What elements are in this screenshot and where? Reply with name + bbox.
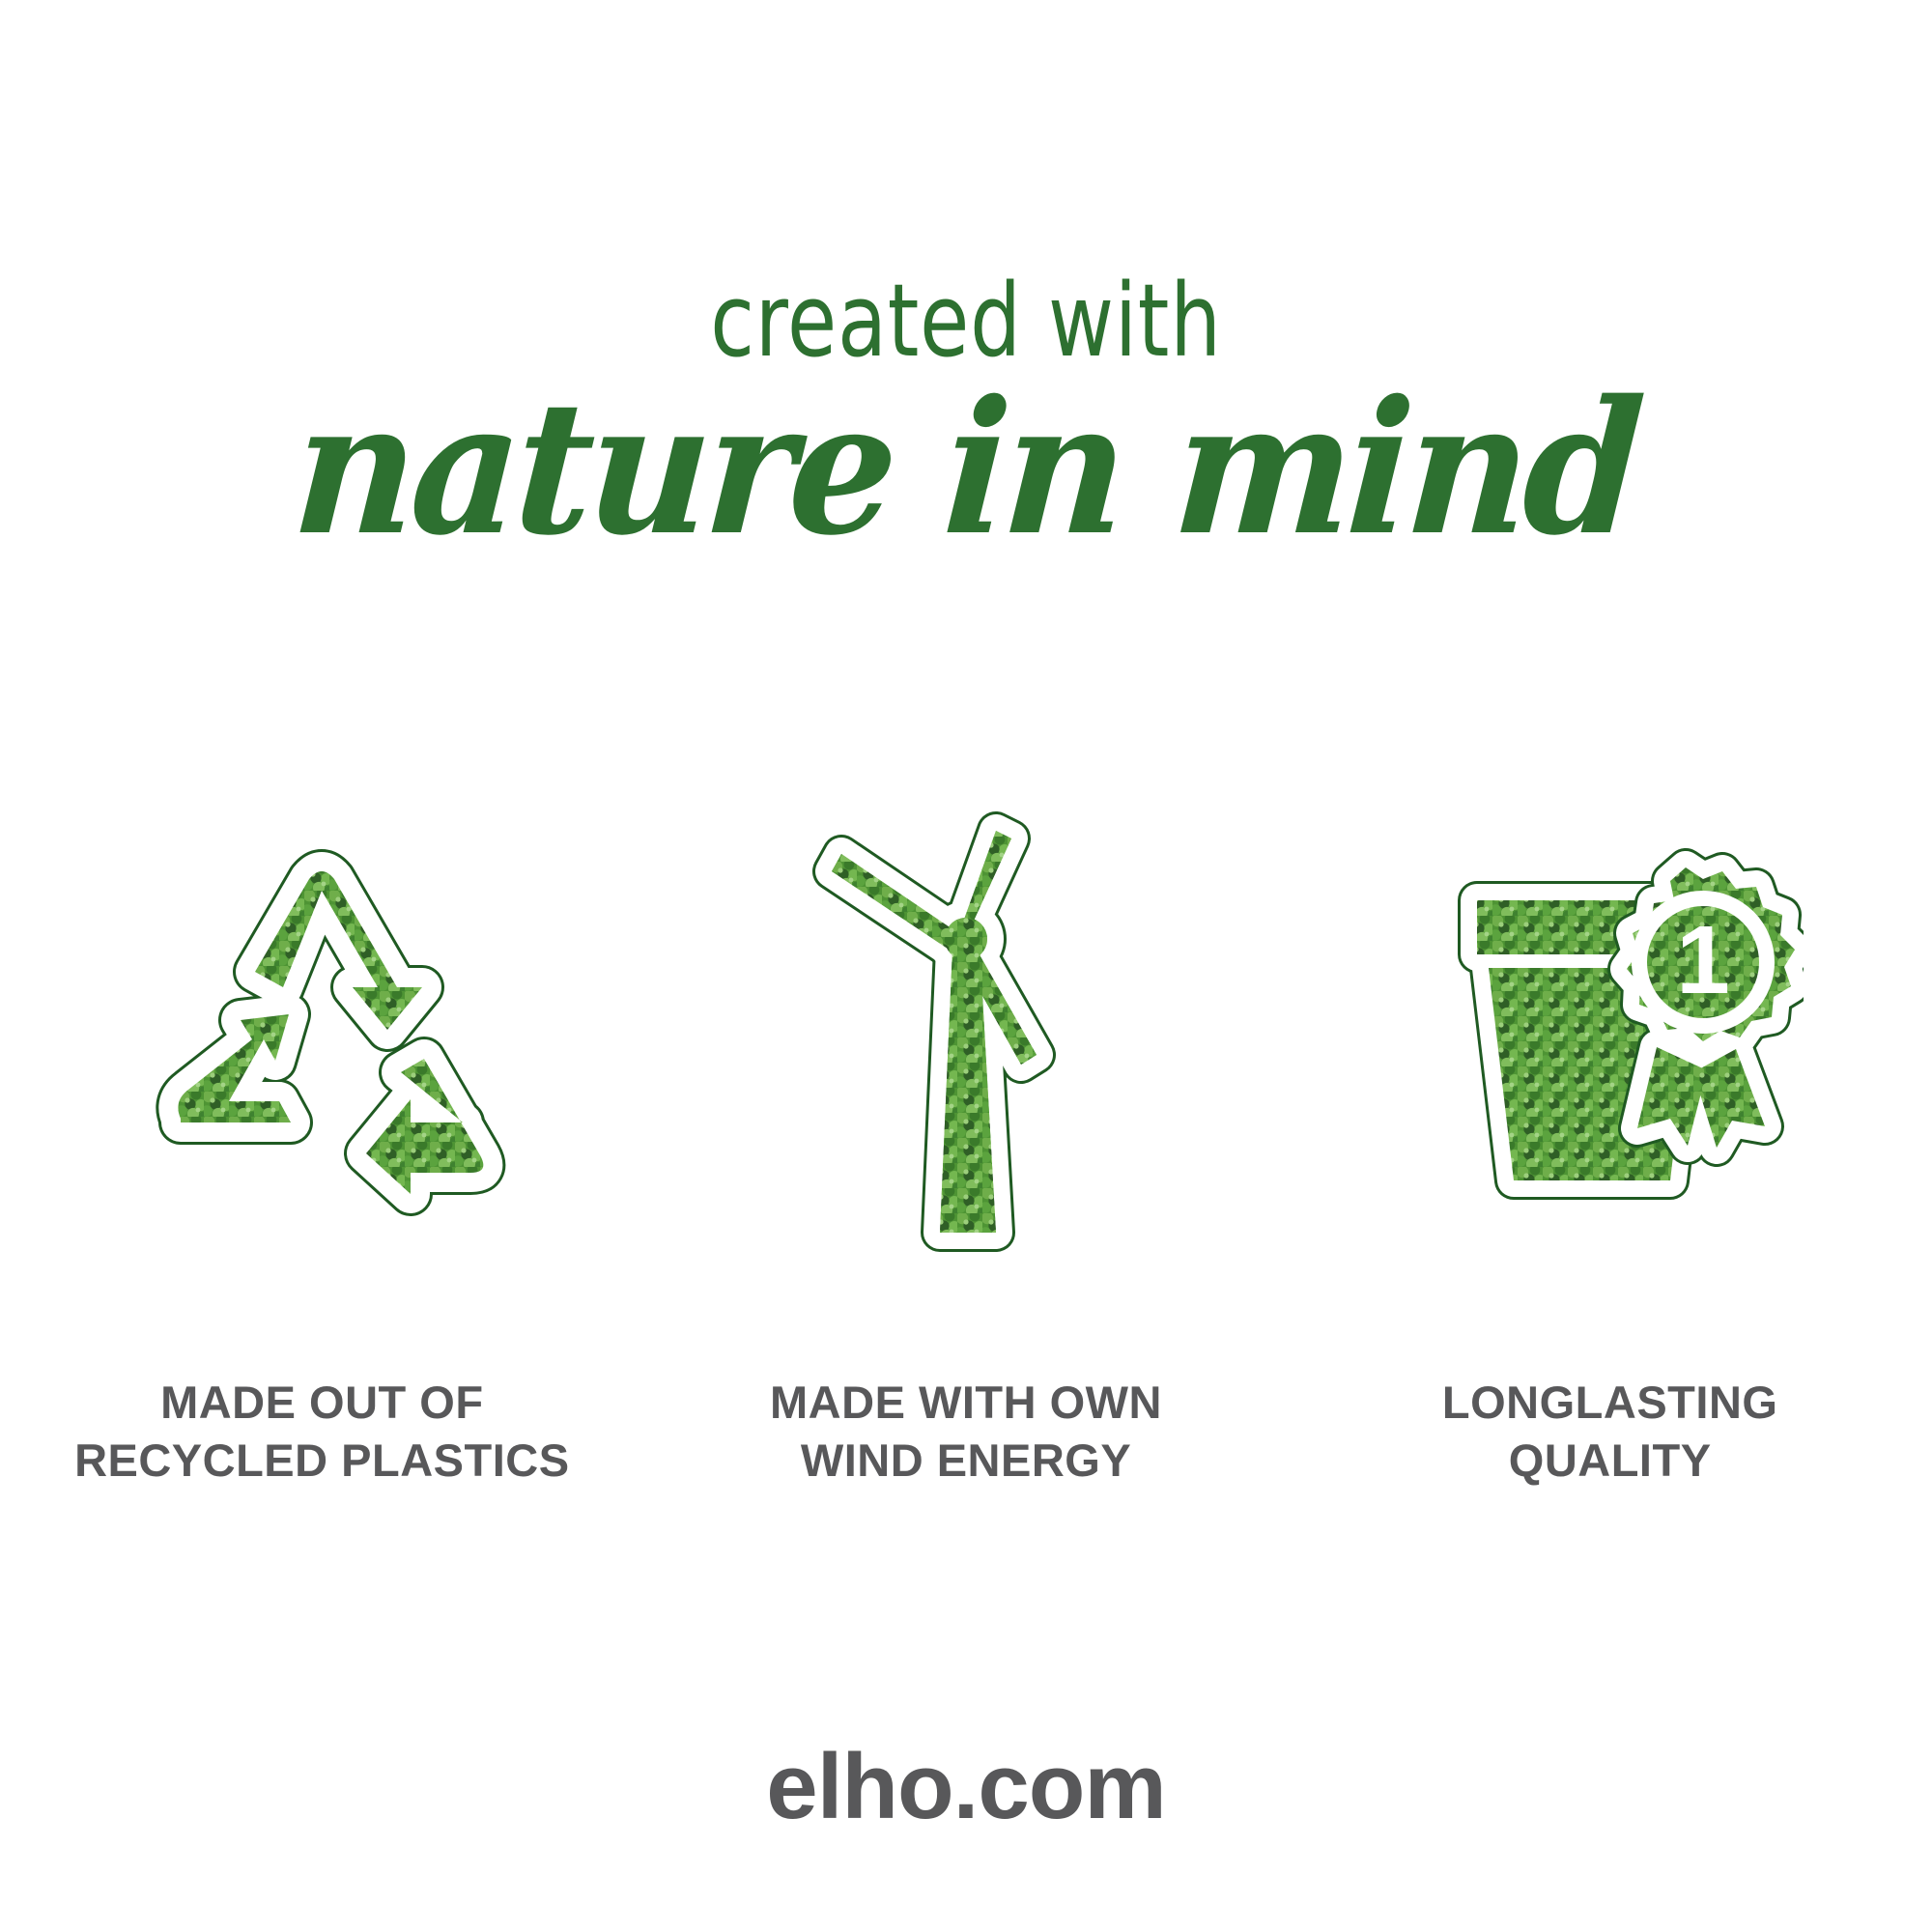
footer: elho.com <box>0 1734 1932 1840</box>
caption-line-2: RECYCLED PLASTICS <box>0 1432 644 1490</box>
poster-canvas: created with nature in mind <box>0 0 1932 1932</box>
caption-line-2: QUALITY <box>1288 1432 1932 1490</box>
recycle-icon <box>128 840 515 1227</box>
caption-wind-energy: MADE WITH OWN WIND ENERGY <box>644 1374 1289 1490</box>
caption-longlasting-quality: LONGLASTING QUALITY <box>1288 1374 1932 1490</box>
caption-recycled-plastics: MADE OUT OF RECYCLED PLASTICS <box>0 1374 644 1490</box>
caption-line-1: LONGLASTING <box>1288 1374 1932 1432</box>
feature-recycled-plastics <box>0 792 644 1275</box>
headline-line-1: created with <box>193 270 1739 371</box>
caption-line-1: MADE OUT OF <box>0 1374 644 1432</box>
caption-line-2: WIND ENERGY <box>644 1432 1289 1490</box>
caption-line-1: MADE WITH OWN <box>644 1374 1289 1432</box>
badge-number: 1 <box>1676 906 1730 1014</box>
feature-caption-row: MADE OUT OF RECYCLED PLASTICS MADE WITH … <box>0 1374 1932 1490</box>
flowerpot-award-icon: 1 <box>1417 840 1804 1227</box>
brand-url[interactable]: elho.com <box>766 1735 1165 1838</box>
feature-wind-energy <box>644 792 1289 1275</box>
headline-line-2-script: nature in mind <box>71 377 1861 560</box>
feature-icon-row: 1 <box>0 792 1932 1275</box>
feature-longlasting-quality: 1 <box>1288 792 1932 1275</box>
headline-block: created with nature in mind <box>0 270 1932 560</box>
wind-turbine-icon <box>807 811 1125 1256</box>
